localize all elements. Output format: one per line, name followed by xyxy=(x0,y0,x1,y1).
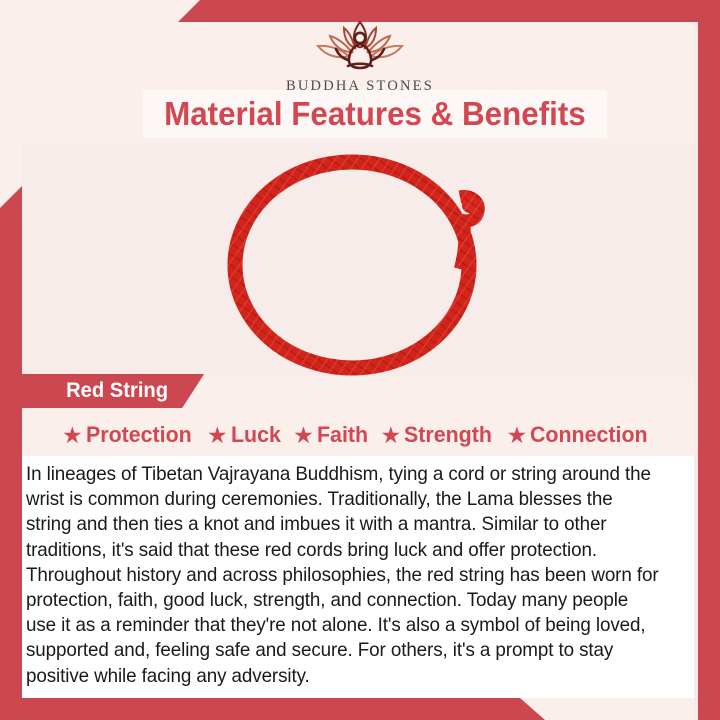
feature-label: Faith xyxy=(317,422,368,448)
feature-label: Strength xyxy=(404,422,492,448)
feature-label: Luck xyxy=(231,422,281,448)
star-icon: ★ xyxy=(380,424,401,447)
product-image xyxy=(22,145,694,377)
star-icon: ★ xyxy=(62,424,83,447)
brand-logo: BUDDHA STONES xyxy=(0,14,720,95)
star-icon: ★ xyxy=(293,424,314,447)
feature-label: Connection xyxy=(530,422,648,448)
description-text: In lineages of Tibetan Vajrayana Buddhis… xyxy=(26,462,660,689)
title-banner: Material Features & Benefits xyxy=(143,90,607,138)
star-icon: ★ xyxy=(207,424,228,447)
product-tag-label: Red String xyxy=(66,379,168,403)
feature-item-strength: ★ Strength xyxy=(380,422,496,448)
infographic-page: BUDDHA STONES Material Features & Benefi… xyxy=(0,0,720,720)
description-panel: In lineages of Tibetan Vajrayana Buddhis… xyxy=(22,456,694,698)
frame-right-band xyxy=(698,22,720,720)
feature-item-faith: ★ Faith xyxy=(293,422,370,448)
lotus-meditation-icon xyxy=(300,14,420,76)
frame-inner-hairline xyxy=(694,22,698,720)
feature-item-protection: ★ Protection xyxy=(62,422,197,448)
feature-item-luck: ★ Luck xyxy=(207,422,283,448)
red-braided-string-bracelet-image xyxy=(208,145,508,377)
feature-label: Protection xyxy=(86,422,192,448)
page-title: Material Features & Benefits xyxy=(164,95,586,133)
frame-left-band xyxy=(0,178,22,720)
feature-list: ★ Protection ★ Luck ★ Faith ★ Strength ★… xyxy=(22,416,694,454)
product-tag: Red String xyxy=(22,374,204,408)
feature-item-connection: ★ Connection xyxy=(507,422,654,448)
star-icon: ★ xyxy=(507,424,528,447)
frame-bottom-band xyxy=(0,698,720,720)
